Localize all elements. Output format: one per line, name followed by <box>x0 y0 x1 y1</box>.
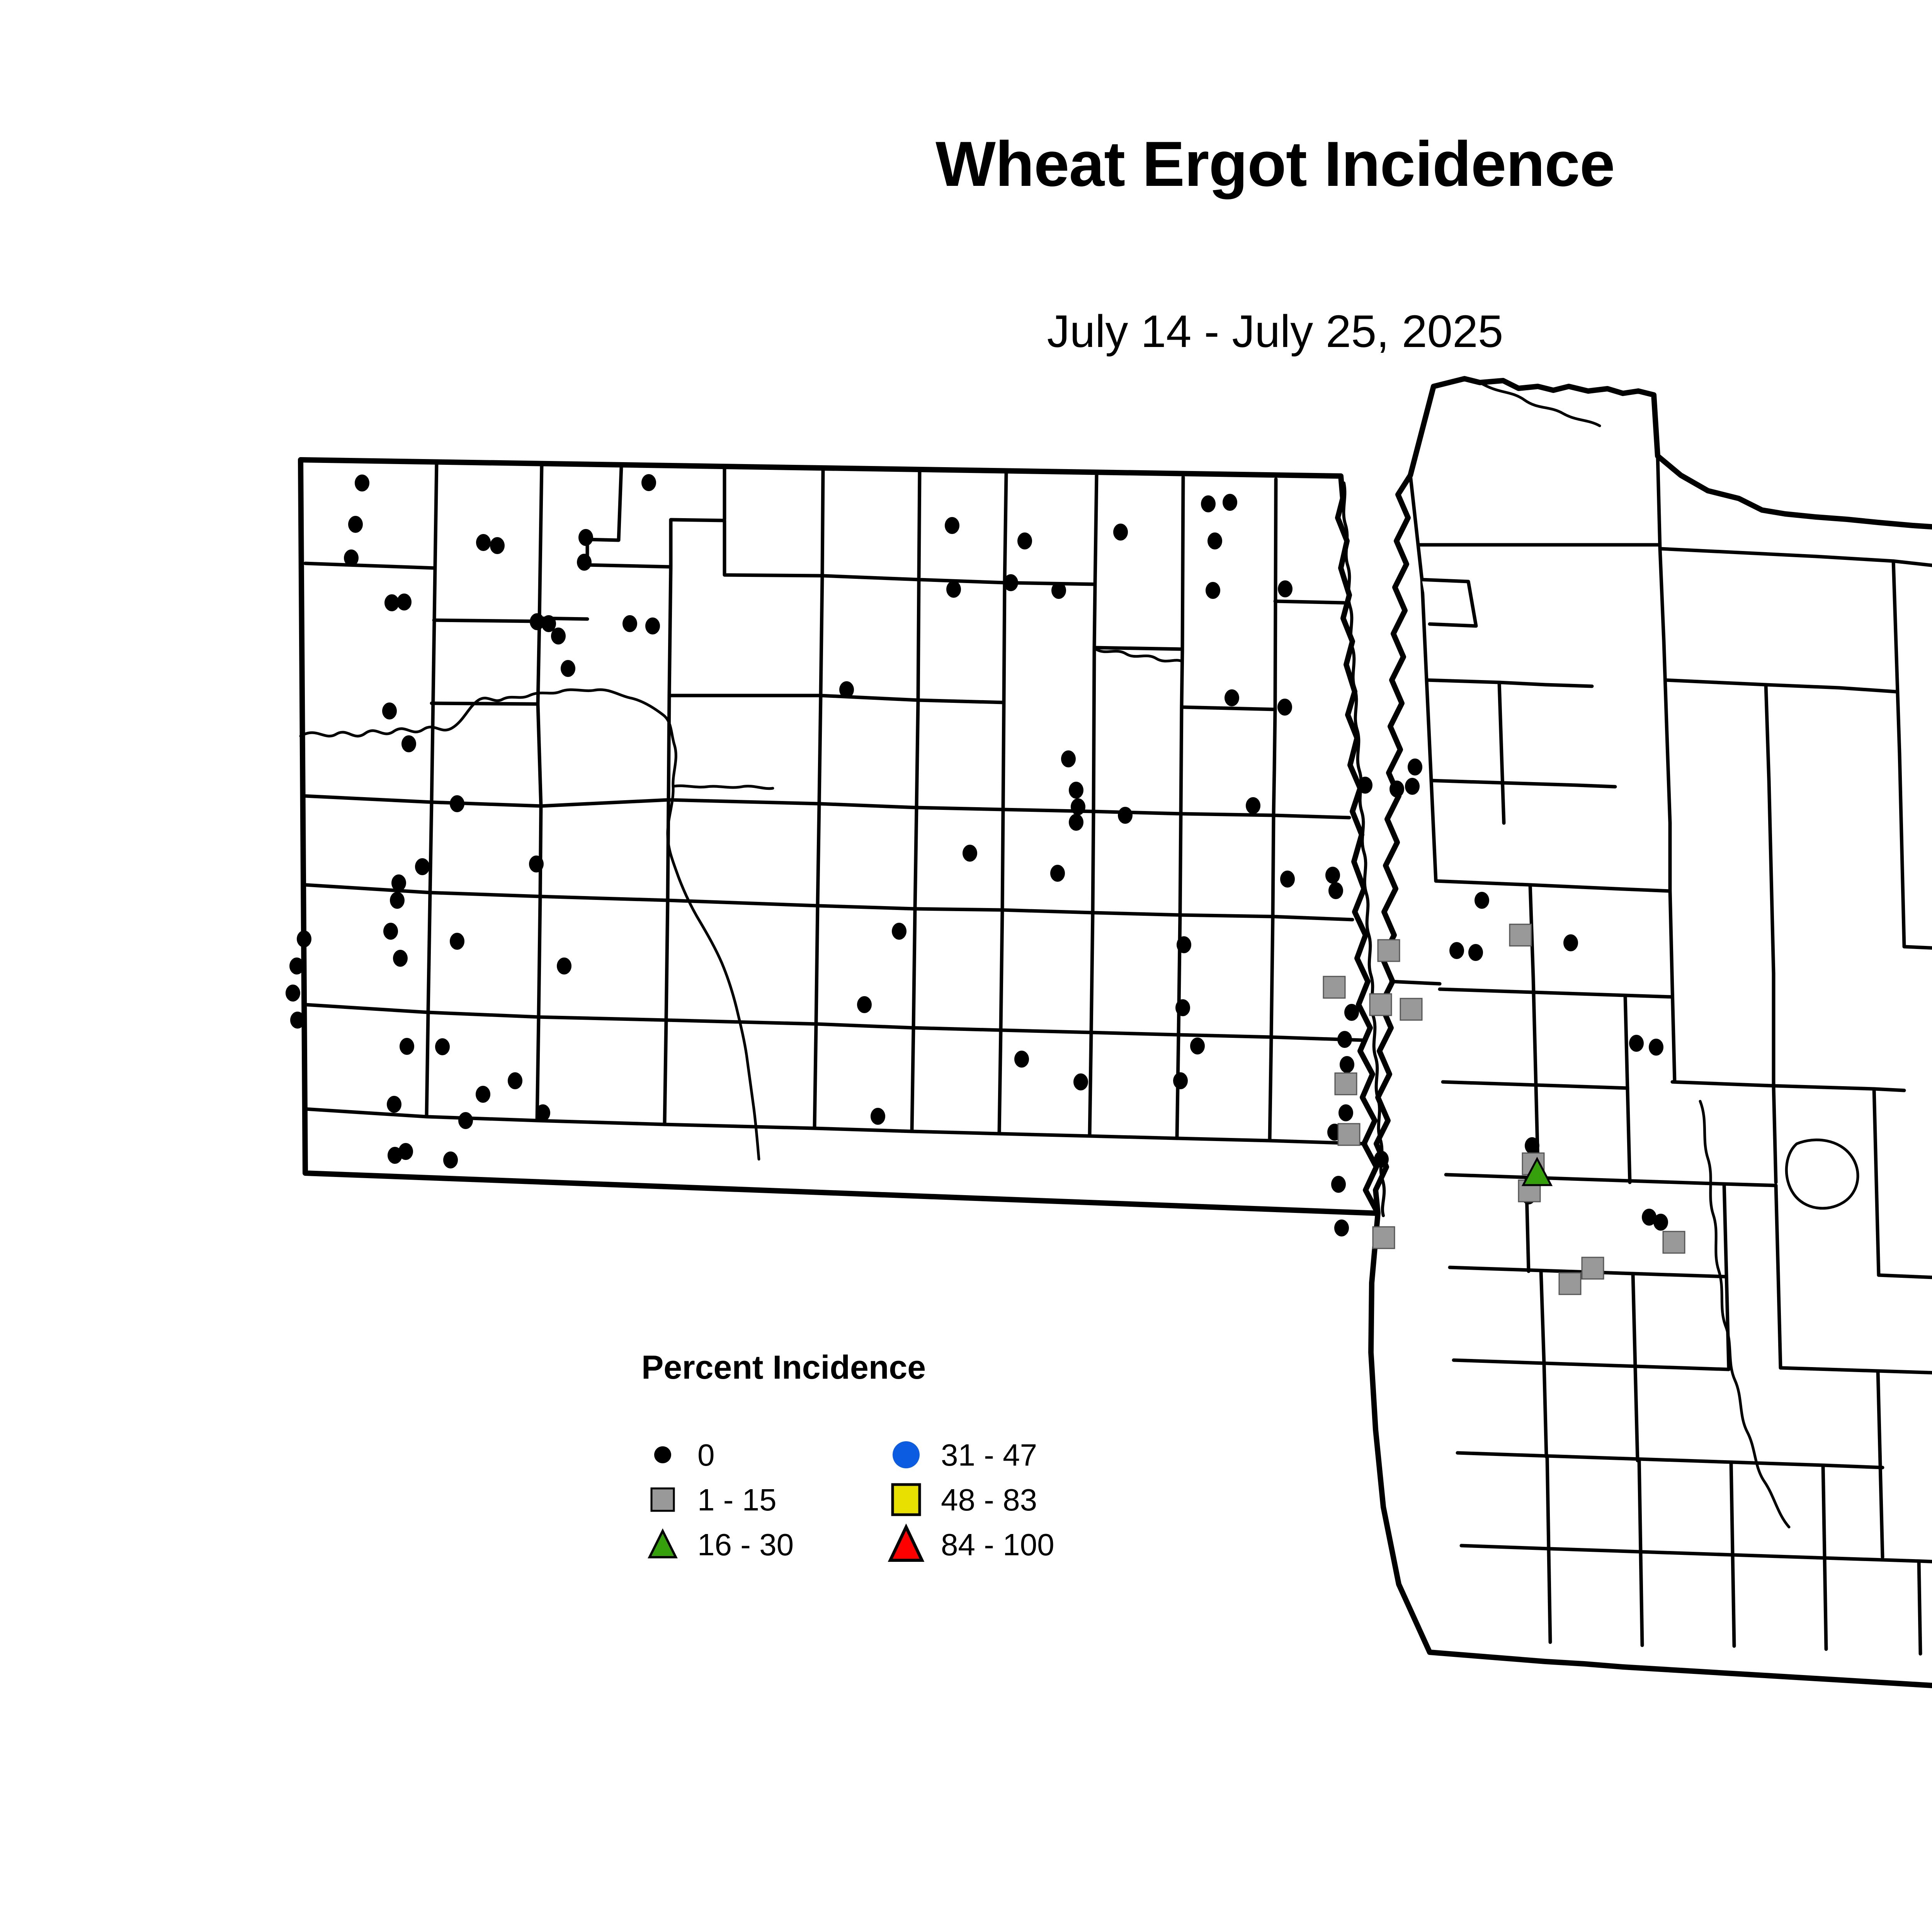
county-line <box>1090 1032 1091 1136</box>
county-line <box>1179 1035 1271 1037</box>
legend-item[interactable]: 84 - 100 <box>881 1523 1113 1568</box>
map-marker-circle-small <box>393 950 408 967</box>
county-line <box>816 906 818 1024</box>
legend-symbol-circle-large-icon <box>881 1434 931 1476</box>
map-marker-circle-small <box>1629 1035 1644 1052</box>
map-marker-circle-small <box>443 1151 458 1168</box>
map-marker-circle-small <box>1175 999 1190 1016</box>
map-marker-circle-small <box>1340 1056 1354 1073</box>
map-marker-circle-small <box>857 996 872 1013</box>
map-marker-circle-small <box>561 660 575 677</box>
county-line <box>913 1028 1001 1030</box>
map-marker-circle-small <box>557 957 571 975</box>
map-marker-circle-small <box>1278 580 1293 597</box>
map-marker-circle-small <box>1246 797 1260 814</box>
county-line <box>1274 709 1275 769</box>
map-marker-circle-small <box>383 923 398 940</box>
map-marker-circle-small <box>348 516 363 533</box>
map-marker-square <box>1400 998 1422 1020</box>
legend-label: 1 - 15 <box>697 1482 777 1518</box>
map-marker-circle-small <box>1344 1004 1359 1021</box>
map-canvas <box>0 0 1932 1932</box>
map-marker-circle-small <box>1225 689 1239 706</box>
county-line <box>999 1030 1001 1134</box>
map-marker-circle-small <box>1118 807 1133 824</box>
map-marker-circle-small <box>450 795 464 812</box>
map-marker-circle-small <box>1073 1073 1088 1090</box>
map-marker-circle-small <box>1358 777 1372 794</box>
map-marker-circle-small <box>390 892 405 909</box>
county-line <box>540 806 541 896</box>
map-marker-circle-small <box>1061 750 1076 767</box>
map-marker-circle-small <box>536 1104 550 1121</box>
legend-title: Percent Incidence <box>641 1349 926 1387</box>
map-marker-circle-small <box>1207 532 1222 549</box>
legend-column-right: 31 - 47 48 - 83 84 <box>881 1434 1113 1568</box>
map-marker-square <box>1370 994 1391 1015</box>
county-line <box>432 703 538 704</box>
map-marker-circle-small <box>508 1072 522 1089</box>
legend-item[interactable]: 48 - 83 <box>881 1478 1113 1523</box>
county-line <box>539 464 542 618</box>
map-marker-circle-small <box>415 858 430 875</box>
legend-label: 16 - 30 <box>697 1527 794 1563</box>
county-line <box>668 696 669 800</box>
state-north-dakota <box>301 460 1378 1213</box>
legend-label: 84 - 100 <box>941 1527 1054 1563</box>
map-marker-circle-small <box>382 702 397 719</box>
legend-label: 48 - 83 <box>941 1482 1037 1518</box>
county-line <box>1003 702 1004 810</box>
map-marker-circle-small <box>1071 798 1085 815</box>
map-marker-circle-small <box>490 537 505 554</box>
map-marker-circle-small <box>1223 494 1237 511</box>
map-marker-circle-small <box>1405 778 1420 795</box>
map-marker-square <box>1378 940 1400 961</box>
map-marker-circle-small <box>1653 1214 1668 1231</box>
map-marker-circle-small <box>297 930 311 947</box>
map-marker-circle-small <box>1206 582 1220 599</box>
map-marker-circle-small <box>1069 782 1083 799</box>
map-marker-circle-small <box>963 845 977 862</box>
county-line <box>538 621 539 704</box>
map-marker-circle-small <box>1003 574 1018 591</box>
map-marker-circle-small <box>344 549 359 566</box>
county-line <box>1271 917 1273 1037</box>
map-marker-circle-small <box>1280 871 1295 888</box>
map-marker-circle-small <box>1468 944 1483 961</box>
county-line <box>539 896 540 1017</box>
legend-item[interactable]: 0 <box>638 1434 869 1478</box>
county-line <box>915 808 917 909</box>
county-line <box>666 900 668 1020</box>
county-line <box>1181 814 1274 815</box>
map-marker-circle-small <box>1328 882 1343 899</box>
county-line <box>428 893 430 1012</box>
map-marker-circle-small <box>1449 942 1464 959</box>
county-line <box>1005 583 1095 584</box>
map-marker-circle-small <box>551 628 566 645</box>
map-marker-circle-small <box>1190 1037 1205 1054</box>
legend-item[interactable]: 16 - 30 <box>638 1523 869 1568</box>
county-line <box>1919 1561 1920 1654</box>
map-marker-circle-small <box>1338 1104 1353 1121</box>
county-line <box>1181 707 1182 814</box>
map-marker-circle-small <box>1051 582 1066 599</box>
county-line <box>917 700 918 808</box>
county-line <box>1095 475 1097 584</box>
county-line <box>913 909 915 1028</box>
county-line <box>1177 1138 1270 1141</box>
legend-symbol-triangle-icon <box>638 1523 688 1566</box>
county-line <box>912 1028 913 1131</box>
legend-symbol-square-icon <box>638 1478 688 1521</box>
map-marker-circle-small <box>1173 1072 1188 1089</box>
map-marker-circle-small <box>355 474 369 492</box>
map-marker-circle-small <box>1050 865 1065 882</box>
county-line <box>999 1134 1090 1136</box>
county-line <box>1093 811 1094 913</box>
map-marker-circle-small <box>578 529 593 546</box>
county-line <box>917 808 1003 810</box>
state-minnesota <box>1371 379 1932 1689</box>
county-line <box>1275 601 1344 603</box>
map-marker-circle-small <box>450 933 464 950</box>
county-line <box>665 1020 666 1124</box>
county-line <box>537 1017 539 1121</box>
county-line <box>1091 913 1093 1032</box>
map-marker-circle-small <box>387 1096 401 1113</box>
map-marker-square <box>1663 1231 1685 1253</box>
county-line <box>434 620 539 621</box>
legend-item[interactable]: 31 - 47 <box>881 1434 1113 1478</box>
county-line <box>818 804 819 906</box>
map-marker-circle-small <box>1337 1031 1352 1048</box>
county-line <box>1094 648 1094 811</box>
map-marker-circle-small <box>946 581 961 598</box>
county-line <box>918 580 919 700</box>
county-line <box>1391 981 1440 984</box>
map-marker-circle-small <box>839 681 854 698</box>
county-line <box>918 700 1004 702</box>
county-line <box>912 1131 999 1134</box>
map-marker-circle-small <box>1113 524 1128 541</box>
county-line <box>1274 815 1349 818</box>
map-marker-circle-small <box>871 1108 885 1125</box>
map-marker-circle-small <box>1017 532 1032 549</box>
map-marker-circle-small <box>1475 892 1489 909</box>
map-marker-circle-small <box>458 1112 473 1129</box>
map-marker-circle-small <box>397 594 412 611</box>
map-marker-circle-small <box>1563 934 1578 951</box>
map-marker-circle-small <box>1525 1137 1539 1154</box>
map-marker-circle-small <box>1177 936 1191 953</box>
map-marker-circle-small <box>641 474 656 491</box>
map-marker-circle-small <box>1014 1051 1029 1068</box>
map-marker-square <box>1510 924 1531 946</box>
map-marker-circle-small <box>388 1147 402 1164</box>
map-marker-circle-small <box>476 534 491 551</box>
county-line <box>819 696 821 804</box>
map-marker-circle-small <box>1277 699 1292 716</box>
county-line <box>1182 477 1183 649</box>
county-line <box>1273 815 1274 917</box>
county-line <box>1001 1030 1091 1032</box>
map-marker-circle-small <box>1334 1219 1349 1236</box>
county-line <box>430 802 432 893</box>
county-line <box>1091 1032 1179 1035</box>
county-line <box>1001 910 1002 1030</box>
map-marker-square <box>1338 1124 1360 1145</box>
county-line <box>669 567 671 696</box>
legend-column-left: 0 1 - 15 16 - 30 <box>638 1434 869 1568</box>
map-marker-circle-small <box>1201 495 1216 512</box>
county-line <box>1004 583 1005 702</box>
wheat-ergot-incidence-map: Wheat Ergot Incidence July 14 - July 25,… <box>0 0 1932 1932</box>
map-marker-circle-small <box>1069 814 1083 831</box>
map-marker-circle-small <box>645 617 660 634</box>
county-line <box>1094 811 1181 814</box>
map-marker-circle-small <box>435 1038 450 1055</box>
map-marker-circle-small <box>1331 1176 1346 1193</box>
map-marker-circle-small <box>577 554 592 571</box>
map-marker-square <box>1373 1227 1395 1248</box>
county-line <box>1180 814 1181 915</box>
legend-symbol-circle-small-icon <box>638 1434 688 1476</box>
map-marker-circle-small <box>391 874 406 891</box>
county-line <box>1180 915 1273 917</box>
county-line <box>815 1024 816 1128</box>
map-marker-square <box>1323 976 1345 998</box>
legend-label: 0 <box>697 1437 715 1473</box>
county-line <box>1422 580 1476 626</box>
county-line <box>1093 913 1180 915</box>
map-marker-circle-small <box>945 517 959 534</box>
map-marker-circle-small <box>289 957 304 975</box>
map-marker-circle-small <box>1408 759 1422 776</box>
county-line <box>1275 479 1276 709</box>
map-marker-circle-small <box>1389 781 1404 798</box>
map-marker-square <box>1335 1073 1357 1095</box>
map-marker-circle-small <box>622 615 637 632</box>
legend-label: 31 - 47 <box>941 1437 1037 1473</box>
map-marker-square <box>1582 1257 1604 1279</box>
map-marker-circle-small <box>476 1086 490 1103</box>
map-marker-circle-small <box>529 855 544 872</box>
map-marker-circle-small <box>290 1012 305 1029</box>
county-line <box>1274 769 1274 815</box>
county-line <box>1090 1136 1177 1138</box>
map-marker-circle-small <box>401 735 416 752</box>
county-line <box>1179 915 1180 1035</box>
county-line <box>427 1012 428 1117</box>
map-marker-circle-small <box>1374 1151 1389 1168</box>
map-marker-square <box>1559 1273 1581 1294</box>
map-marker-circle-small <box>1325 867 1340 884</box>
map-marker-circle-small <box>400 1038 414 1055</box>
legend: Percent Incidence 0 <box>641 1349 1144 1619</box>
map-marker-circle-small <box>286 985 300 1002</box>
county-line <box>915 909 1002 910</box>
county-line <box>821 576 822 696</box>
legend-symbol-triangle-icon <box>881 1523 931 1566</box>
legend-symbol-square-icon <box>881 1478 931 1521</box>
map-marker-circle-small <box>1649 1039 1663 1056</box>
map-marker-circle-small <box>892 923 906 940</box>
county-line <box>919 472 920 580</box>
county-line <box>1270 1037 1271 1141</box>
county-line <box>1002 810 1003 910</box>
legend-item[interactable]: 1 - 15 <box>638 1478 869 1523</box>
